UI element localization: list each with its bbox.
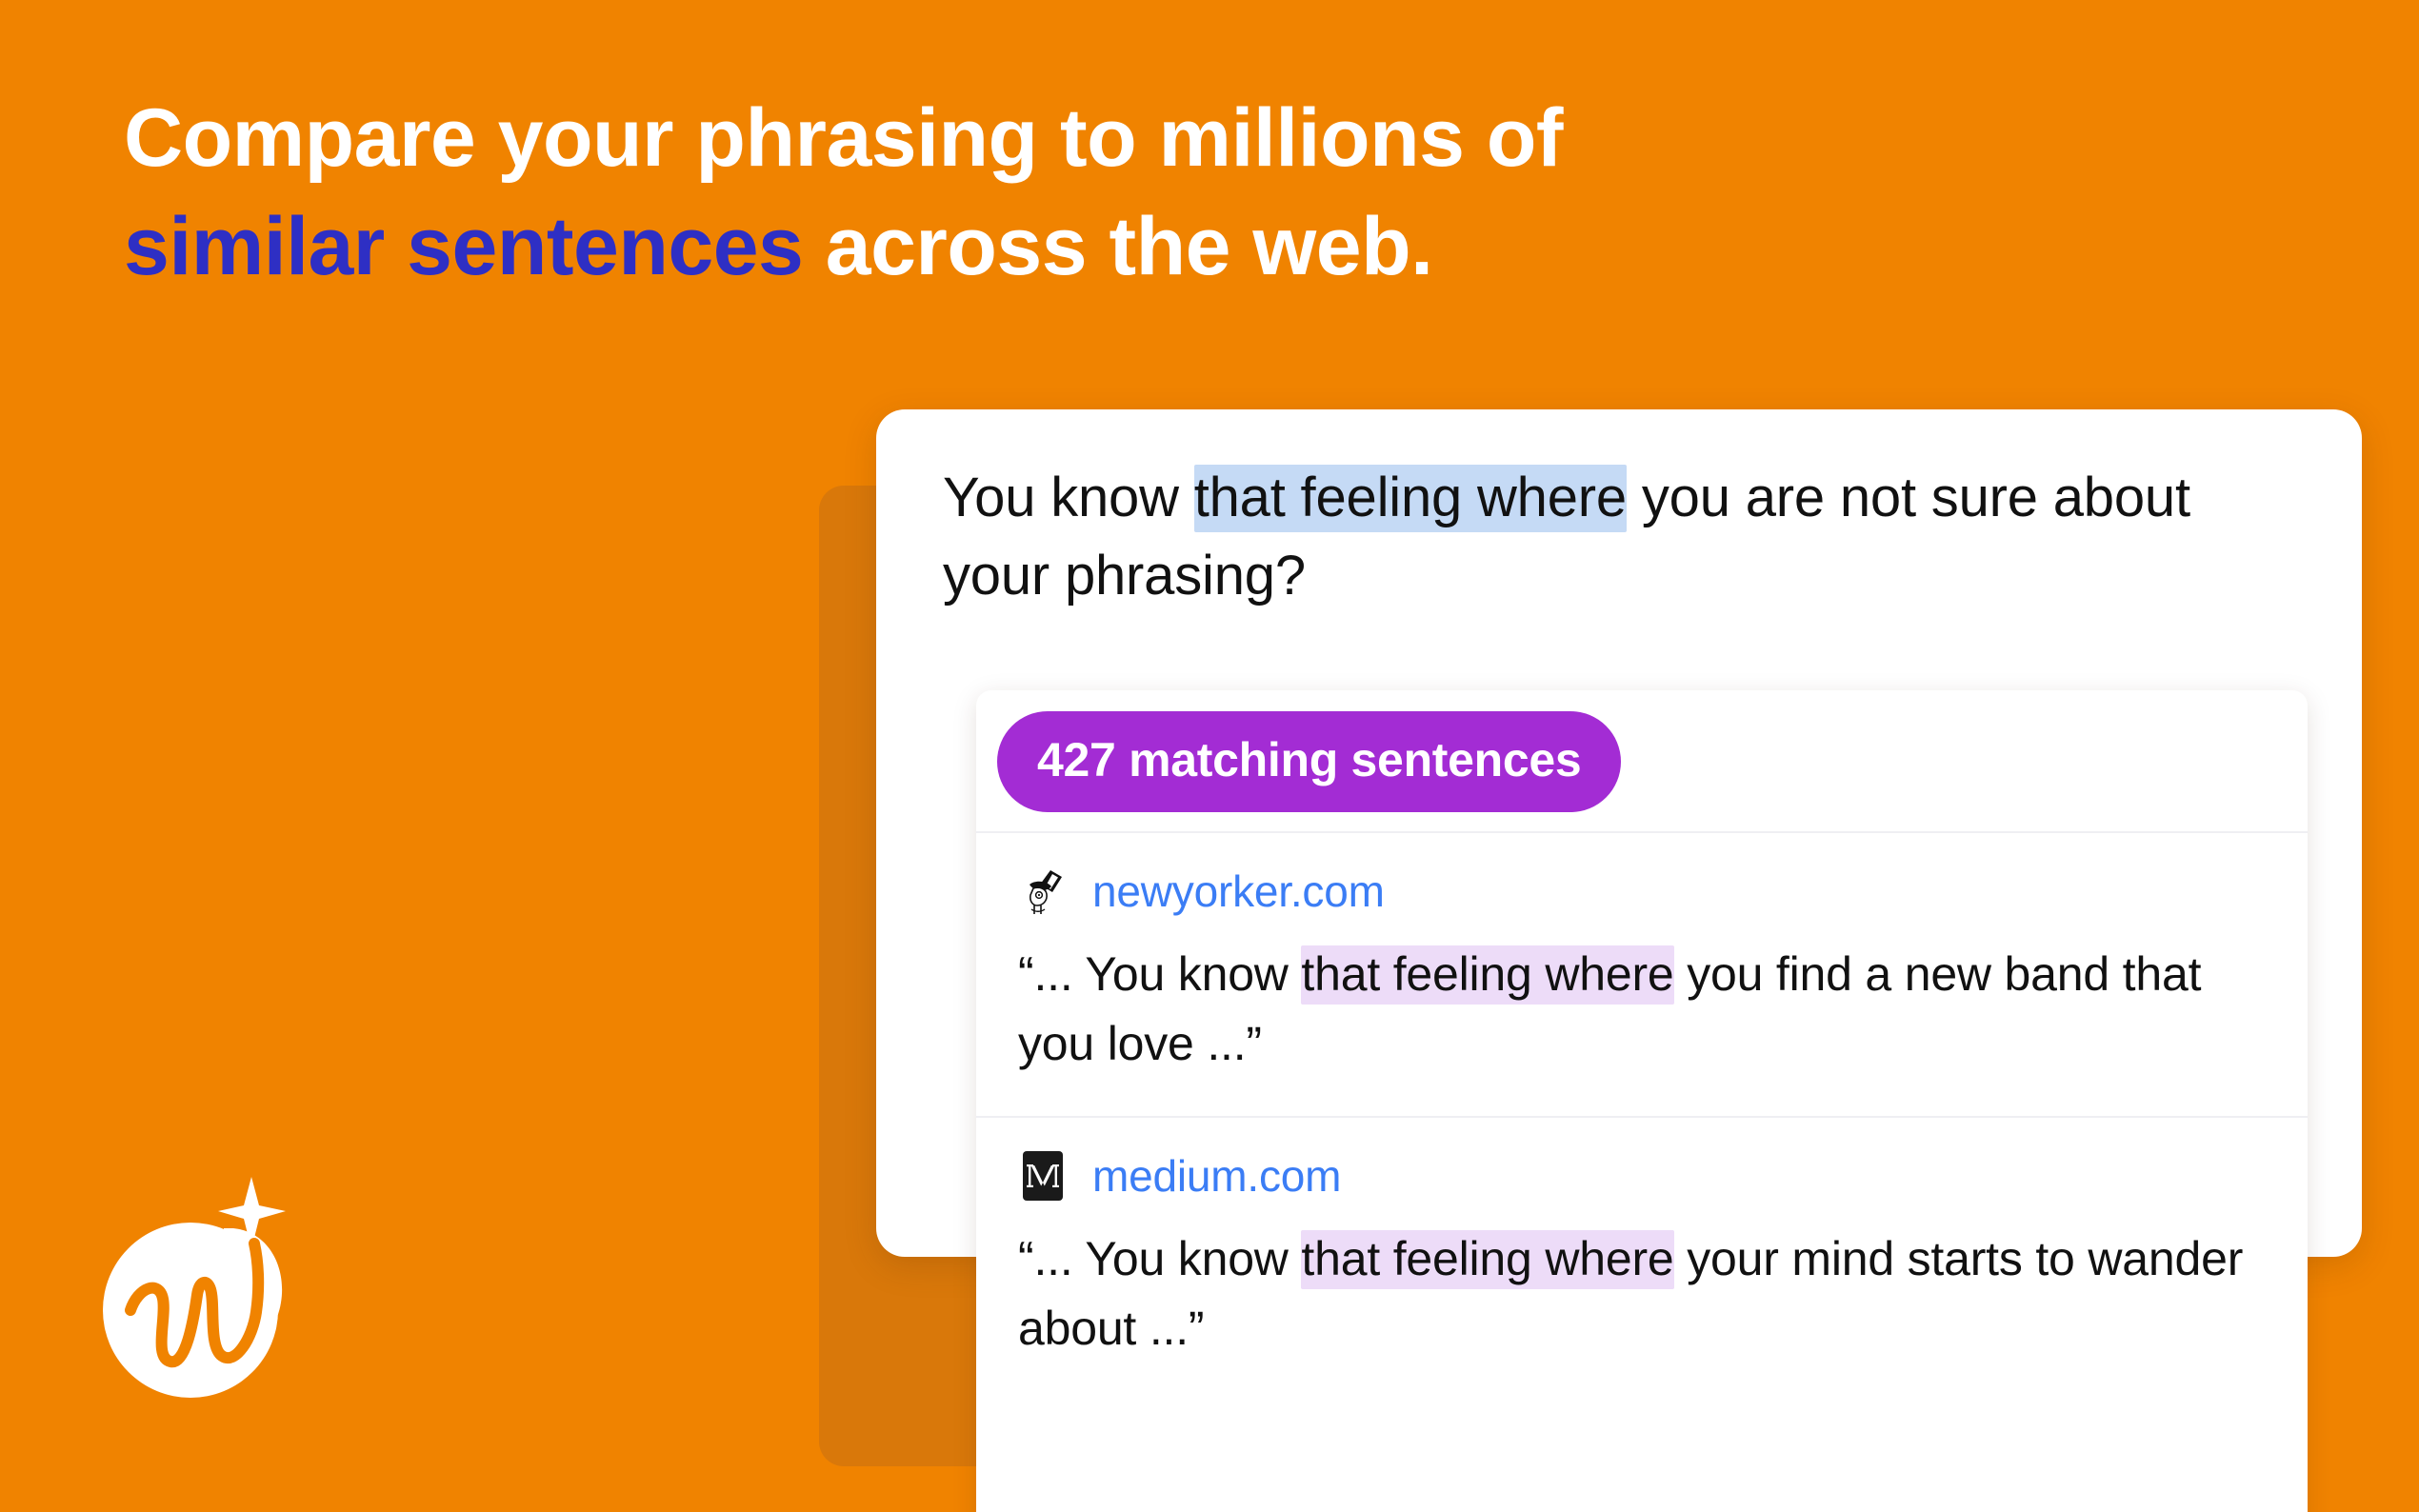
badge-row: 427 matching sentences — [976, 690, 2308, 833]
headline-line-1: Compare your phrasing to millions of — [124, 92, 1563, 184]
snippet-highlight: that feeling where — [1301, 1230, 1673, 1289]
snippet-highlight: that feeling where — [1301, 945, 1673, 1005]
card-stack: You know that feeling where you are not … — [819, 409, 2362, 1512]
headline-accent-text: similar sentences — [124, 201, 803, 292]
newyorker-eustace-tilley-icon — [1018, 866, 1068, 916]
matching-sentences-panel: 427 matching sentences — [976, 690, 2308, 1512]
source-row: medium.com — [1018, 1150, 2266, 1202]
source-row: newyorker.com — [1018, 865, 2266, 917]
source-link[interactable]: medium.com — [1092, 1150, 1341, 1202]
page-title: Compare your phrasing to millions of sim… — [124, 84, 1933, 302]
list-item[interactable]: medium.com “... You know that feeling wh… — [976, 1116, 2308, 1401]
medium-m-icon — [1018, 1151, 1068, 1201]
promo-banner: Compare your phrasing to millions of sim… — [0, 0, 2419, 1512]
prompt-sentence: You know that feeling where you are not … — [943, 459, 2295, 616]
snippet-text: “... You know that feeling where your mi… — [1018, 1224, 2266, 1363]
list-item[interactable]: newyorker.com “... You know that feeling… — [976, 833, 2308, 1116]
prompt-highlight: that feeling where — [1194, 465, 1627, 532]
snippet-before: “... You know — [1018, 947, 1301, 1001]
snippet-before: “... You know — [1018, 1232, 1301, 1285]
snippet-text: “... You know that feeling where you fin… — [1018, 940, 2266, 1078]
headline-line-2-rest: across the web. — [803, 201, 1432, 292]
source-link[interactable]: newyorker.com — [1092, 865, 1385, 917]
matching-sentences-badge[interactable]: 427 matching sentences — [997, 711, 1621, 812]
prompt-text-before: You know — [943, 467, 1194, 528]
wordtune-logo[interactable] — [90, 1169, 329, 1407]
